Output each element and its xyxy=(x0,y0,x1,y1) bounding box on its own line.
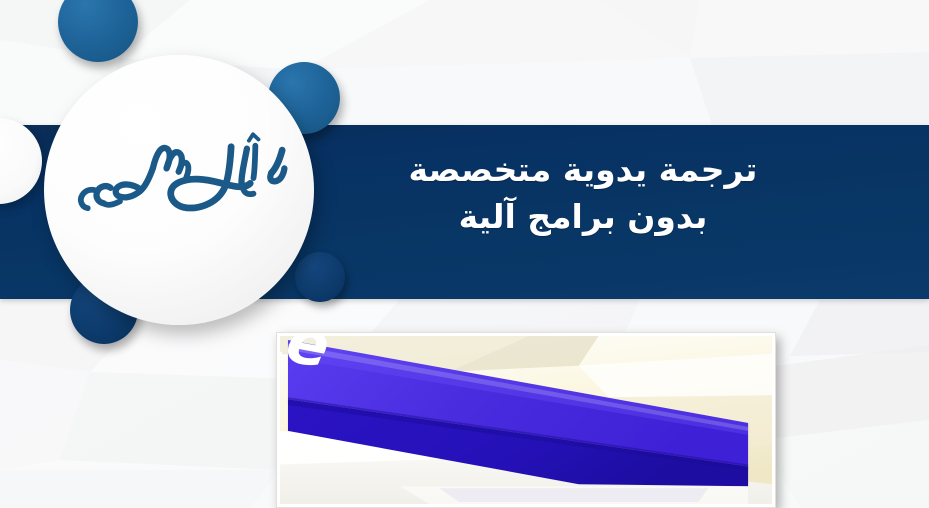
decorative-blue-circle-top-left xyxy=(58,0,138,62)
translate-image: Translate xyxy=(276,332,776,508)
decorative-navy-circle-right xyxy=(295,252,345,302)
logo-disc xyxy=(44,55,314,325)
presentation-slide: ترجمة يدوية متخصصة بدون برامج آلية xyxy=(0,0,929,508)
page-title: ترجمة يدوية متخصصة بدون برامج آلية xyxy=(323,147,843,241)
calligraphy-signature-icon xyxy=(55,123,295,234)
translate-image-inner: Translate xyxy=(280,336,772,504)
translate-key-illustration: Translate xyxy=(280,336,772,504)
